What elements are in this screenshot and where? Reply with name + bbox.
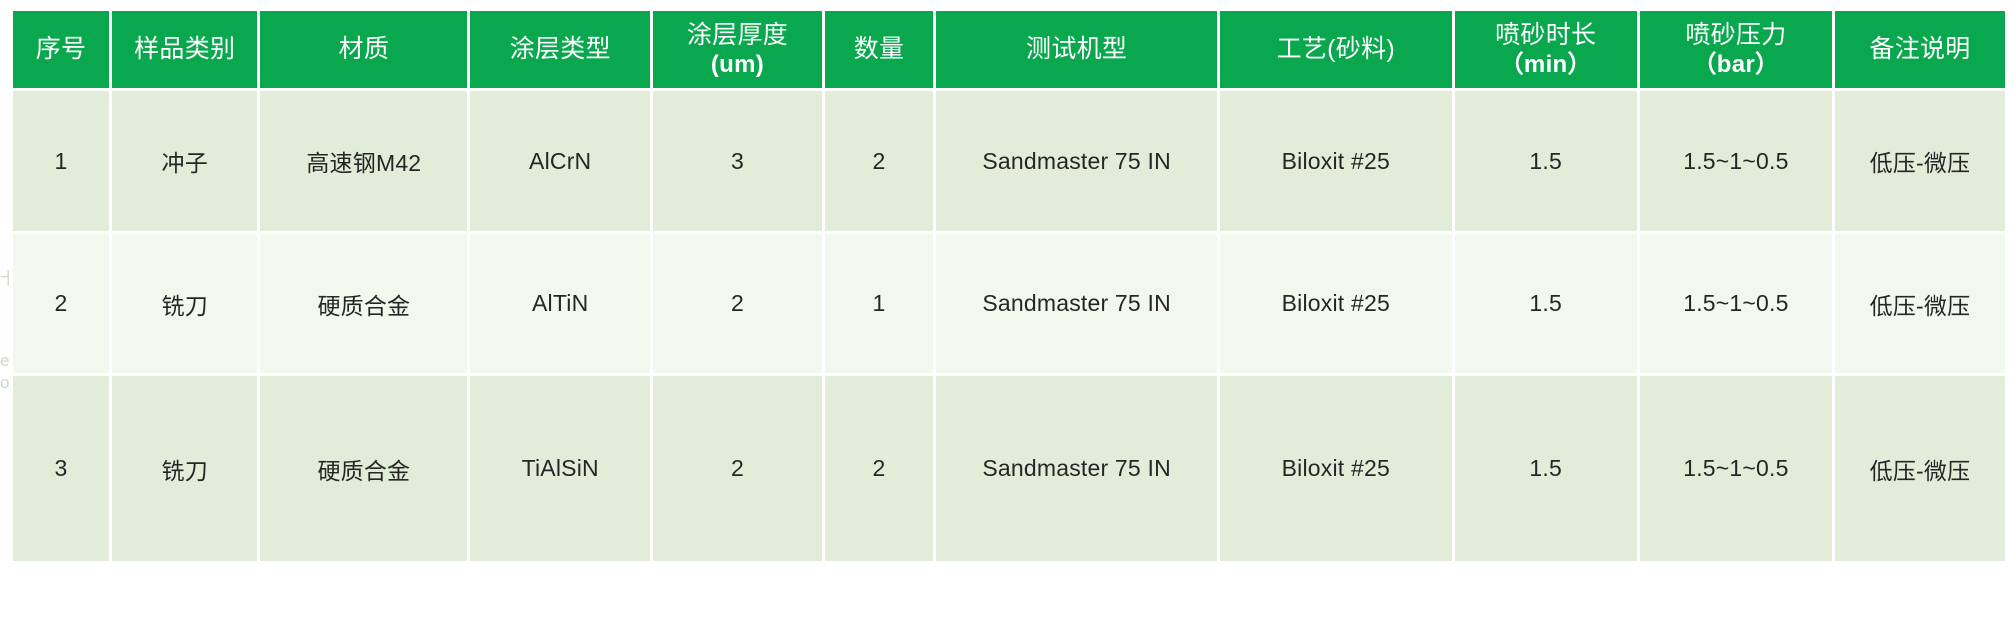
column-header-sample-type: 样品类别 xyxy=(112,11,257,88)
column-header-material: 材质 xyxy=(260,11,467,88)
column-header-sample-type-label: 样品类别 xyxy=(112,34,257,65)
cell-coating-thickness: 3 xyxy=(653,91,822,231)
cell-blast-pressure: 1.5~1~0.5 xyxy=(1640,234,1832,373)
cell-test-machine: Sandmaster 75 IN xyxy=(936,376,1217,561)
edge-artifact-mark-two: e xyxy=(0,352,9,369)
cell-quantity: 1 xyxy=(825,234,933,373)
cell-remark: 低压-微压 xyxy=(1835,234,2005,373)
column-header-blast-time-unit: （min） xyxy=(1455,50,1637,79)
cell-seq: 1 xyxy=(13,91,109,231)
edge-artifact-mark-three: o xyxy=(0,374,9,391)
sample-test-table: 序号 样品类别 材质 涂层类型 涂层厚度 (um) xyxy=(10,8,2008,564)
column-header-coating-type-label: 涂层类型 xyxy=(470,34,650,65)
cell-process-media: Biloxit #25 xyxy=(1220,376,1452,561)
column-header-blast-pressure-label: 喷砂压力 xyxy=(1640,20,1832,51)
column-header-process-media-label: 工艺(砂料) xyxy=(1220,34,1452,65)
column-header-seq: 序号 xyxy=(13,11,109,88)
cell-blast-time: 1.5 xyxy=(1455,376,1637,561)
cell-process-media: Biloxit #25 xyxy=(1220,91,1452,231)
cell-quantity: 2 xyxy=(825,376,933,561)
cell-test-machine: Sandmaster 75 IN xyxy=(936,91,1217,231)
column-header-test-machine: 测试机型 xyxy=(936,11,1217,88)
cell-coating-thickness: 2 xyxy=(653,376,822,561)
cell-material: 硬质合金 xyxy=(260,234,467,373)
column-header-coating-thickness: 涂层厚度 (um) xyxy=(653,11,822,88)
column-header-coating-thickness-unit: (um) xyxy=(653,50,822,79)
sample-test-table-container: 卡 e o 序号 样品类别 材质 xyxy=(0,0,2015,637)
edge-artifact-mark-one: 卡 xyxy=(0,270,9,287)
cell-sample-type: 铣刀 xyxy=(112,234,257,373)
column-header-blast-time: 喷砂时长 （min） xyxy=(1455,11,1637,88)
cell-blast-pressure: 1.5~1~0.5 xyxy=(1640,91,1832,231)
table-row: 2 铣刀 硬质合金 AlTiN 2 1 Sandmaster 75 IN Bil… xyxy=(13,234,2005,373)
cell-test-machine: Sandmaster 75 IN xyxy=(936,234,1217,373)
column-header-remark: 备注说明 xyxy=(1835,11,2005,88)
column-header-remark-label: 备注说明 xyxy=(1835,34,2005,65)
cell-blast-pressure: 1.5~1~0.5 xyxy=(1640,376,1832,561)
table-header-row: 序号 样品类别 材质 涂层类型 涂层厚度 (um) xyxy=(13,11,2005,88)
column-header-test-machine-label: 测试机型 xyxy=(936,34,1217,65)
cell-blast-time: 1.5 xyxy=(1455,234,1637,373)
column-header-material-label: 材质 xyxy=(260,34,467,65)
cell-seq: 2 xyxy=(13,234,109,373)
table-body: 1 冲子 高速钢M42 AlCrN 3 2 Sandmaster 75 IN B… xyxy=(13,91,2005,561)
cell-coating-thickness: 2 xyxy=(653,234,822,373)
cell-seq: 3 xyxy=(13,376,109,561)
cell-remark: 低压-微压 xyxy=(1835,91,2005,231)
cell-blast-time: 1.5 xyxy=(1455,91,1637,231)
table-header: 序号 样品类别 材质 涂层类型 涂层厚度 (um) xyxy=(13,11,2005,88)
cell-material: 硬质合金 xyxy=(260,376,467,561)
cell-process-media: Biloxit #25 xyxy=(1220,234,1452,373)
cell-remark: 低压-微压 xyxy=(1835,376,2005,561)
column-header-process-media: 工艺(砂料) xyxy=(1220,11,1452,88)
table-row: 3 铣刀 硬质合金 TiAlSiN 2 2 Sandmaster 75 IN B… xyxy=(13,376,2005,561)
cell-sample-type: 冲子 xyxy=(112,91,257,231)
column-header-coating-type: 涂层类型 xyxy=(470,11,650,88)
column-header-blast-pressure-unit: （bar） xyxy=(1640,50,1832,79)
column-header-blast-pressure: 喷砂压力 （bar） xyxy=(1640,11,1832,88)
cell-sample-type: 铣刀 xyxy=(112,376,257,561)
column-header-seq-label: 序号 xyxy=(13,34,109,65)
cell-coating-type: AlCrN xyxy=(470,91,650,231)
column-header-quantity: 数量 xyxy=(825,11,933,88)
cell-material: 高速钢M42 xyxy=(260,91,467,231)
column-header-coating-thickness-label: 涂层厚度 xyxy=(653,20,822,51)
column-header-quantity-label: 数量 xyxy=(825,34,933,65)
cell-quantity: 2 xyxy=(825,91,933,231)
column-header-blast-time-label: 喷砂时长 xyxy=(1455,20,1637,51)
cell-coating-type: AlTiN xyxy=(470,234,650,373)
table-row: 1 冲子 高速钢M42 AlCrN 3 2 Sandmaster 75 IN B… xyxy=(13,91,2005,231)
cell-coating-type: TiAlSiN xyxy=(470,376,650,561)
